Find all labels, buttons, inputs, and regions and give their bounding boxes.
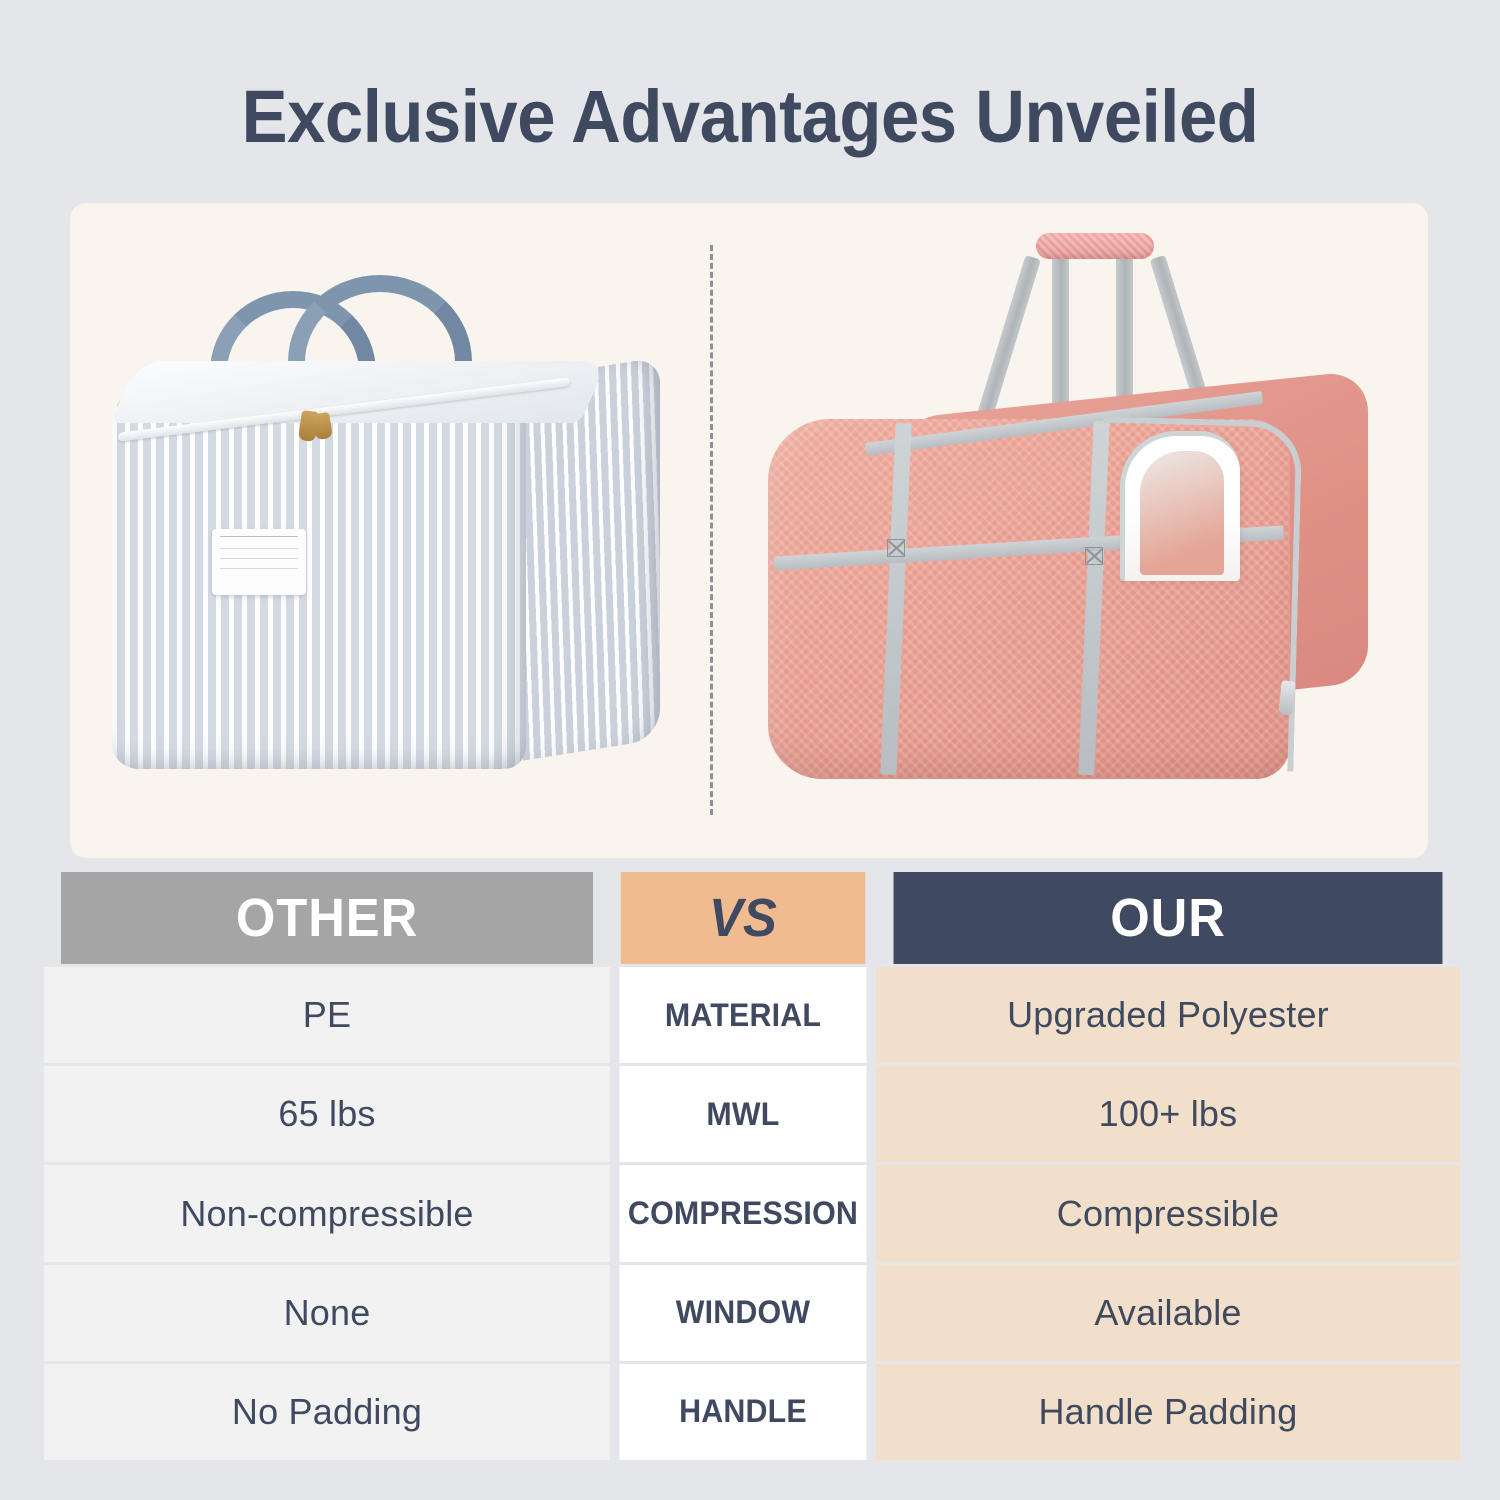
row-4-label: HANDLE [620, 1364, 867, 1460]
row-4-our: Handle Padding [876, 1364, 1460, 1460]
our-bag-body [768, 395, 1384, 791]
row-3-our: Available [876, 1265, 1460, 1361]
row-0-our: Upgraded Polyester [876, 967, 1460, 1063]
our-padded-handle-wrap [1036, 233, 1154, 259]
row-1-label: MWL [620, 1066, 867, 1162]
row-1-other: 65 lbs [44, 1066, 610, 1162]
table-row: PE MATERIAL Upgraded Polyester [44, 967, 1460, 1063]
row-3-label: WINDOW [620, 1265, 867, 1361]
header-our: OUR [894, 872, 1443, 964]
comparison-table: OTHER VS OUR PE MATERIAL Upgraded Polyes… [44, 872, 1460, 1460]
competitor-bag-front-panel [112, 391, 526, 769]
header-other: OTHER [61, 872, 593, 964]
row-3-other: None [44, 1265, 610, 1361]
box-x-stitch-icon-left [887, 539, 905, 557]
page-title: Exclusive Advantages Unveiled [53, 74, 1448, 159]
header-vs: VS [621, 872, 865, 964]
row-2-other: Non-compressible [44, 1165, 610, 1261]
our-handle-strap-inner-right [1116, 245, 1133, 411]
our-bag-compression-zipper [1093, 416, 1302, 771]
table-header-row: OTHER VS OUR [44, 872, 1460, 964]
table-row: None WINDOW Available [44, 1265, 1460, 1361]
row-0-label: MATERIAL [620, 967, 867, 1063]
table-row: Non-compressible COMPRESSION Compressibl… [44, 1165, 1460, 1261]
competitor-bag-image [100, 233, 700, 813]
photo-divider [710, 245, 713, 815]
table-row: 65 lbs MWL 100+ lbs [44, 1066, 1460, 1162]
row-1-our: 100+ lbs [876, 1066, 1460, 1162]
row-2-label: COMPRESSION [620, 1165, 867, 1261]
row-2-our: Compressible [876, 1165, 1460, 1261]
our-handle-strap-inner-left [1052, 245, 1069, 415]
row-0-other: PE [44, 967, 610, 1063]
row-4-other: No Padding [44, 1364, 610, 1460]
competitor-bag-label-card [212, 529, 306, 595]
our-bag-image [760, 219, 1400, 829]
product-photo-panel [70, 203, 1428, 858]
table-row: No Padding HANDLE Handle Padding [44, 1364, 1460, 1460]
competitor-bag-body [112, 361, 660, 773]
competitor-bag-top-panel [110, 361, 608, 423]
